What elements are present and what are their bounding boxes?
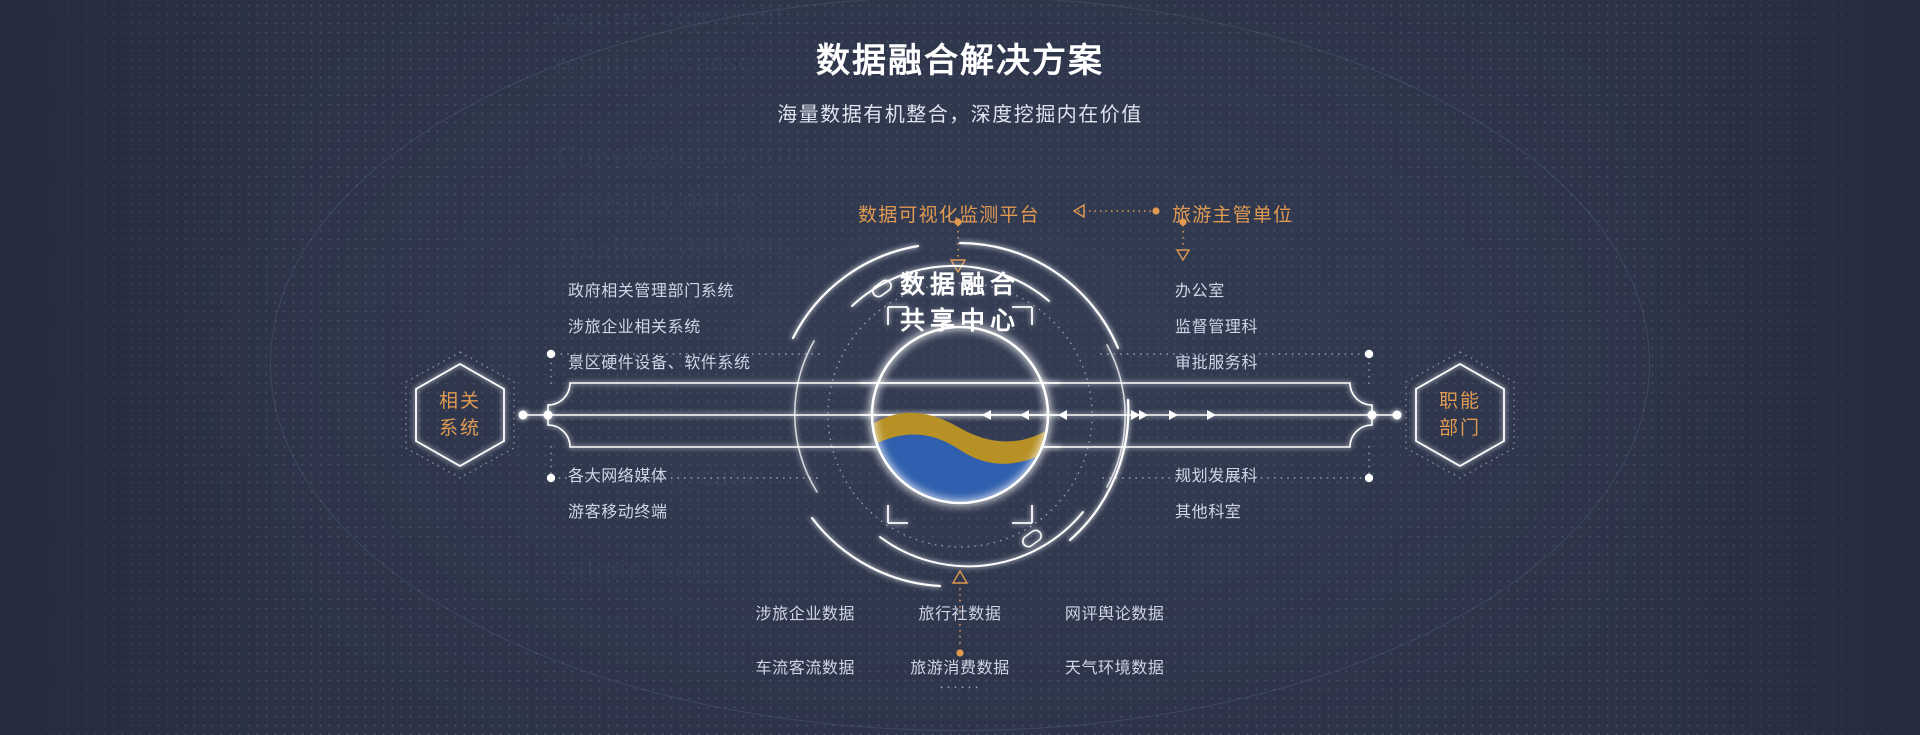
bottom-label-traffic-flow-data: 车流客流数据: [730, 654, 881, 678]
bottom-label-tourism-consumption-data: 旅游消费数据: [885, 654, 1036, 678]
top-horizontal-dotted-connector: [1074, 205, 1160, 217]
top-right-vertical-connector: [1177, 218, 1189, 260]
left-dotted-branches: [547, 350, 820, 482]
page-subtitle: 海量数据有机整合，深度挖掘内在价值: [0, 98, 1920, 127]
header: 数据融合解决方案 海量数据有机整合，深度挖掘内在价值: [0, 38, 1920, 127]
bottom-label-enterprise-data: 涉旅企业数据: [730, 600, 881, 624]
bottom-label-travel-agency-data: 旅行社数据: [885, 600, 1036, 624]
center-ring-mid: [795, 266, 1125, 566]
bottom-label-weather-environment-data: 天气环境数据: [1039, 654, 1190, 678]
bottom-label-online-review-data: 网评舆论数据: [1039, 600, 1190, 624]
bottom-data-grid: 涉旅企业数据 旅行社数据 网评舆论数据 车流客流数据 旅游消费数据 天气环境数据: [730, 600, 1190, 678]
ring-node-markers: [871, 278, 1044, 549]
top-left-vertical-connector: [951, 218, 965, 272]
page-title: 数据融合解决方案: [0, 38, 1920, 84]
